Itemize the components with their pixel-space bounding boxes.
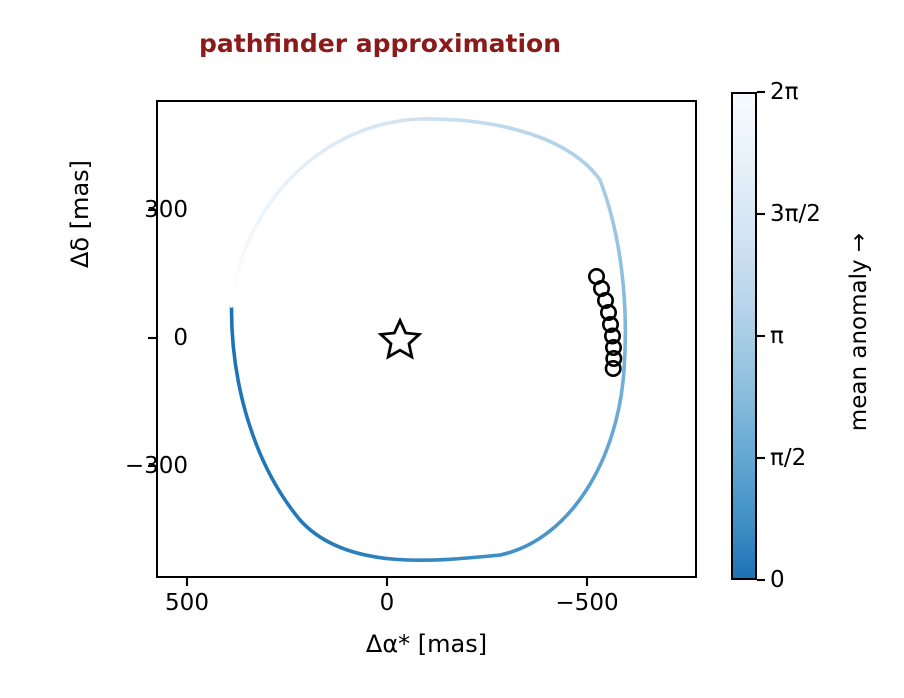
colorbar-tick-label: 0 [770,567,785,593]
figure-title: pathfinder approximation [0,29,760,58]
colorbar-tick-label: 3π/2 [770,201,821,227]
colorbar [731,92,757,580]
colorbar-tick-label: 2π [770,79,798,105]
x-tick-label: 0 [380,590,395,616]
y-tick-label: 300 [144,197,188,223]
x-tick-label: −500 [555,590,618,616]
x-axis-label: Δα* [mas] [156,630,697,658]
colorbar-tick-label: π [770,323,784,349]
colorbar-axis-label: mean anomaly → [846,177,872,487]
colorbar-gradient [733,94,755,578]
y-axis-label: Δδ [mas] [66,74,94,354]
colorbar-tick-label: π/2 [770,445,806,471]
main-axes-frame [156,100,697,578]
x-tick-label: 500 [165,590,209,616]
y-tick-label: 0 [173,325,188,351]
y-tick-label: −300 [125,453,188,479]
figure-canvas: pathfinder approximation [0,0,904,698]
